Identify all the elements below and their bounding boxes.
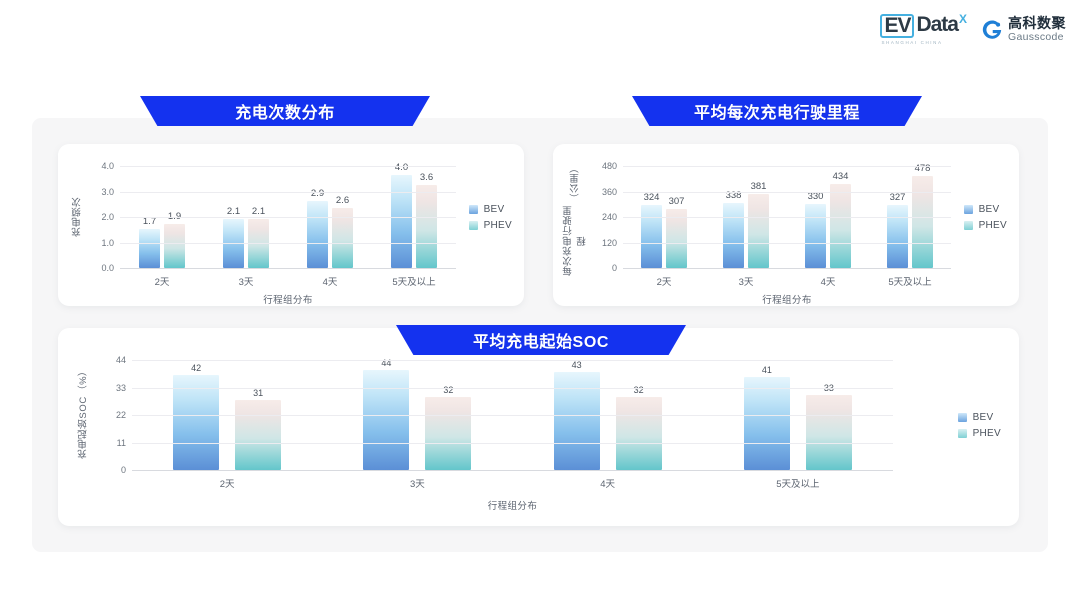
bar-value-label: 4.0 <box>395 162 408 173</box>
legend-label: PHEV <box>979 220 1007 231</box>
x-axis-tick: 2天 <box>120 274 204 288</box>
legend-swatch-phev-icon <box>469 221 478 230</box>
gridline <box>623 166 951 167</box>
y-axis-label-line: 充电起始SOC <box>77 396 91 459</box>
x-axis-tick: 5天及以上 <box>869 274 951 288</box>
bar-bev[interactable]: 4.0 <box>391 175 412 268</box>
legend-item-phev[interactable]: PHEV <box>469 220 512 231</box>
y-axis-tick: 22 <box>116 410 126 420</box>
x-axis-tick: 2天 <box>623 274 705 288</box>
legend-item-phev[interactable]: PHEV <box>958 428 1001 439</box>
bar-value-label: 43 <box>572 360 582 370</box>
legend-item-bev[interactable]: BEV <box>958 412 1001 423</box>
chart-start-soc: 充电起始SOC（%） 443322110 4231443243324133 2天… <box>58 328 1019 526</box>
bar-phev[interactable]: 3.6 <box>416 185 437 268</box>
y-axis-label-line: （公里） <box>569 166 583 203</box>
x-axis-label: 行程组分布 <box>623 292 951 306</box>
bar-bev[interactable]: 1.7 <box>139 229 160 268</box>
x-axis-line <box>120 268 456 269</box>
bar-bev[interactable]: 2.1 <box>223 219 244 268</box>
bar-value-label: 42 <box>191 363 201 373</box>
gausscode-cn-name: 高科数聚 <box>1008 16 1066 30</box>
y-axis-tick: 44 <box>116 355 126 365</box>
legend-swatch-phev-icon <box>964 221 973 230</box>
bar-bev[interactable]: 42 <box>173 375 219 470</box>
y-axis-tick: 120 <box>602 238 617 248</box>
x-axis-tick: 3天 <box>705 274 787 288</box>
chart-card-start-soc: 充电起始SOC（%） 443322110 4231443243324133 2天… <box>58 328 1019 526</box>
plot-area: 324307338381330434327478 <box>623 166 951 268</box>
chart-title-banner-start-soc: 平均充电起始SOC <box>396 325 686 355</box>
bar-bev[interactable]: 41 <box>744 377 790 470</box>
y-axis-tick: 3.0 <box>101 187 114 197</box>
gridline <box>132 415 893 416</box>
x-axis-ticks: 2天3天4天5天及以上 <box>120 274 456 288</box>
x-axis-line <box>132 470 893 471</box>
x-axis-tick: 3天 <box>204 274 288 288</box>
plot-area: 1.71.92.12.12.92.64.03.6 <box>120 166 456 268</box>
gridline <box>120 192 456 193</box>
bar-phev[interactable]: 32 <box>616 397 662 470</box>
chart-legend: BEVPHEV <box>469 204 512 231</box>
legend-swatch-phev-icon <box>958 429 967 438</box>
gridline <box>132 443 893 444</box>
chart-card-range-per-charge: 每次充电行驶里程（公里） 4803602401200 3243073383813… <box>553 144 1019 306</box>
y-axis-tick: 360 <box>602 187 617 197</box>
bar-bev[interactable]: 330 <box>805 204 826 268</box>
chart-legend: BEVPHEV <box>958 412 1001 439</box>
bar-value-label: 41 <box>762 365 772 375</box>
bar-phev[interactable]: 2.1 <box>248 219 269 268</box>
bar-bev[interactable]: 324 <box>641 205 662 268</box>
y-axis-label: 充电起始SOC（%） <box>72 360 96 464</box>
y-axis-tick: 0 <box>121 465 126 475</box>
x-axis-line <box>623 268 951 269</box>
y-axis-tick: 33 <box>116 383 126 393</box>
y-axis-label-line: 充电频次 <box>71 197 85 237</box>
y-axis-tick: 2.0 <box>101 212 114 222</box>
y-axis-tick: 480 <box>602 161 617 171</box>
evdata-ev-text: EV <box>880 14 914 38</box>
x-axis-tick: 4天 <box>513 476 703 490</box>
y-axis-tick: 1.0 <box>101 238 114 248</box>
chart-title-banner-range-per-charge: 平均每次充电行驶里程 <box>632 96 922 126</box>
legend-item-phev[interactable]: PHEV <box>964 220 1007 231</box>
bar-value-label: 434 <box>833 171 849 182</box>
x-axis-tick: 2天 <box>132 476 322 490</box>
bar-value-label: 3.6 <box>420 172 433 183</box>
gausscode-text: 高科数聚 Gausscode <box>1008 16 1066 43</box>
x-axis-tick: 4天 <box>787 274 869 288</box>
legend-label: BEV <box>973 412 994 423</box>
bar-value-label: 330 <box>808 191 824 202</box>
y-axis-tick: 240 <box>602 212 617 222</box>
gridline <box>132 360 893 361</box>
x-axis-tick: 3天 <box>322 476 512 490</box>
legend-label: BEV <box>484 204 505 215</box>
bar-bev[interactable]: 44 <box>363 370 409 470</box>
evdata-logo-wordmark: EV Data X <box>880 14 967 38</box>
y-axis-tick: 0 <box>612 263 617 273</box>
x-axis-ticks: 2天3天4天5天及以上 <box>132 476 893 490</box>
y-axis-ticks: 4803602401200 <box>587 166 617 268</box>
legend-label: PHEV <box>973 428 1001 439</box>
header-logos: EV Data X SHANGHAI CHINA 高科数聚 Gausscode <box>880 14 1066 45</box>
gridline <box>623 217 951 218</box>
chart-title-banner-charging-frequency: 充电次数分布 <box>140 96 430 126</box>
legend-swatch-bev-icon <box>964 205 973 214</box>
bar-value-label: 327 <box>890 192 906 203</box>
bar-phev[interactable]: 31 <box>235 400 281 470</box>
y-axis-ticks: 4.03.02.01.00.0 <box>84 166 114 268</box>
gridline <box>623 243 951 244</box>
gausscode-logo: 高科数聚 Gausscode <box>981 16 1066 43</box>
x-axis-tick: 5天及以上 <box>703 476 893 490</box>
chart-legend: BEVPHEV <box>964 204 1007 231</box>
x-axis-tick: 5天及以上 <box>372 274 456 288</box>
y-axis-label: 充电频次 <box>72 174 84 260</box>
bar-bev[interactable]: 2.9 <box>307 201 328 268</box>
y-axis-label: 每次充电行驶里程（公里） <box>564 166 588 278</box>
chart-charging-frequency: 充电频次 4.03.02.01.00.0 1.71.92.12.12.92.64… <box>58 144 524 306</box>
bar-phev[interactable]: 1.9 <box>164 224 185 268</box>
gridline <box>132 388 893 389</box>
legend-swatch-bev-icon <box>469 205 478 214</box>
plot-area: 4231443243324133 <box>132 360 893 470</box>
bar-value-label: 324 <box>644 192 660 203</box>
gridline <box>120 243 456 244</box>
legend-label: PHEV <box>484 220 512 231</box>
bar-value-label: 478 <box>915 163 931 174</box>
x-axis-ticks: 2天3天4天5天及以上 <box>623 274 951 288</box>
evdata-superscript-x: X <box>959 14 967 24</box>
bar-value-label: 2.1 <box>227 206 240 217</box>
gausscode-g-icon <box>981 19 1003 41</box>
gausscode-en-name: Gausscode <box>1008 32 1066 43</box>
gridline <box>120 217 456 218</box>
gridline <box>120 166 456 167</box>
x-axis-label: 行程组分布 <box>120 292 456 306</box>
evdata-logo-subtitle: SHANGHAI CHINA <box>880 40 942 45</box>
bar-bev[interactable]: 338 <box>723 203 744 268</box>
x-axis-tick: 4天 <box>288 274 372 288</box>
bar-value-label: 31 <box>253 388 263 398</box>
y-axis-label-line: （%） <box>77 365 91 394</box>
bar-value-label: 307 <box>669 196 685 207</box>
legend-item-bev[interactable]: BEV <box>964 204 1007 215</box>
bar-value-label: 2.6 <box>336 195 349 206</box>
bar-value-label: 2.9 <box>311 188 324 199</box>
gridline <box>623 192 951 193</box>
legend-item-bev[interactable]: BEV <box>469 204 512 215</box>
evdata-logo: EV Data X SHANGHAI CHINA <box>880 14 967 45</box>
legend-label: BEV <box>979 204 1000 215</box>
bar-phev[interactable]: 381 <box>748 194 769 268</box>
chart-card-charging-frequency: 充电频次 4.03.02.01.00.0 1.71.92.12.12.92.64… <box>58 144 524 306</box>
bar-phev[interactable]: 434 <box>830 184 851 268</box>
y-axis-tick: 11 <box>117 438 126 448</box>
legend-swatch-bev-icon <box>958 413 967 422</box>
bar-phev[interactable]: 32 <box>425 397 471 470</box>
x-axis-label: 行程组分布 <box>132 498 893 512</box>
y-axis-ticks: 443322110 <box>96 360 126 470</box>
bar-phev[interactable]: 478 <box>912 176 933 268</box>
bar-value-label: 2.1 <box>252 206 265 217</box>
y-axis-label-line: 每次充电行驶里程 <box>562 204 590 278</box>
chart-range-per-charge: 每次充电行驶里程（公里） 4803602401200 3243073383813… <box>553 144 1019 306</box>
bar-phev[interactable]: 33 <box>806 395 852 470</box>
y-axis-tick: 4.0 <box>101 161 114 171</box>
bar-bev[interactable]: 327 <box>887 205 908 268</box>
y-axis-tick: 0.0 <box>101 263 114 273</box>
evdata-data-text: Data <box>916 14 958 36</box>
